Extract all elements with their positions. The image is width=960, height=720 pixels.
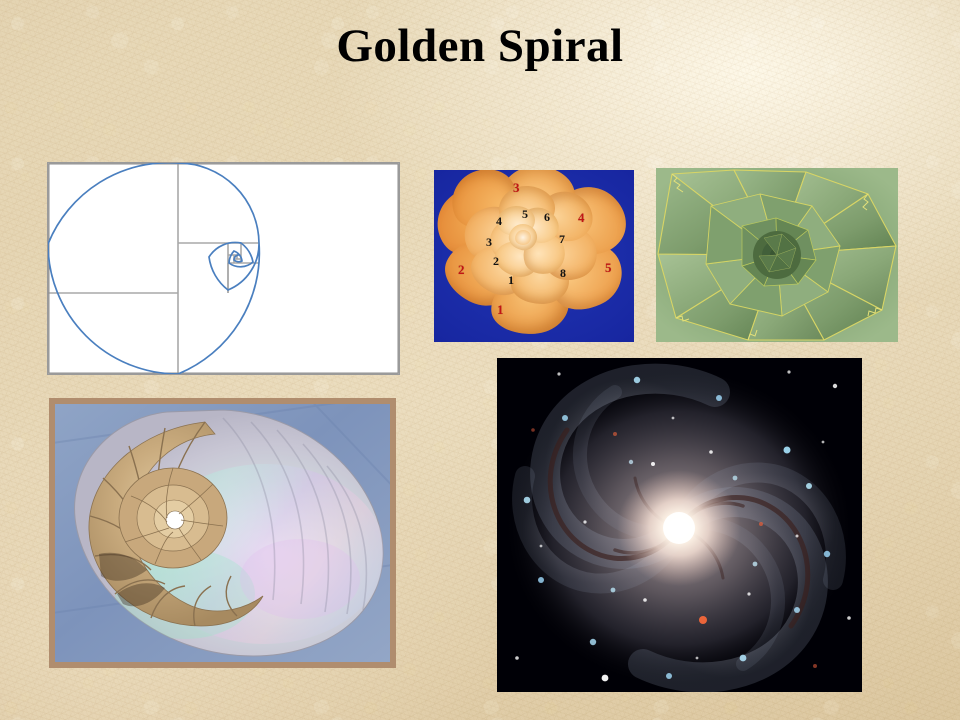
rose-inner-label-8: 8 <box>560 267 566 279</box>
slide-canvas: Golden Spiral <box>0 0 960 720</box>
spiral-galaxy-photo <box>497 358 862 692</box>
galaxy-svg <box>497 358 862 692</box>
rose-inner-label-6: 6 <box>544 211 550 223</box>
rose-outer-label-4: 4 <box>578 211 585 224</box>
rose-inner-label-2: 2 <box>493 255 499 267</box>
rose-outer-label-2: 2 <box>458 263 465 276</box>
rose-inner-label-1: 1 <box>508 274 514 286</box>
galaxy-nucleus <box>663 512 695 544</box>
golden-spiral-rectangle-diagram <box>47 162 400 375</box>
rose-inner-label-7: 7 <box>559 233 565 245</box>
rose-inner-label-4: 4 <box>496 215 502 227</box>
slide-title: Golden Spiral <box>0 22 960 71</box>
rose-outer-label-5: 5 <box>605 261 612 274</box>
rose-phyllotaxis-photo: 1 2 3 4 5 1 2 3 4 5 6 7 8 <box>434 170 634 342</box>
nautilus-shell-cross-section-photo <box>49 398 396 668</box>
spiral-aloe-photo <box>656 168 898 342</box>
nautilus-inner-coil <box>119 468 227 568</box>
nautilus-image <box>55 404 390 662</box>
nautilus-svg <box>55 404 390 662</box>
rose-bloom: 1 2 3 4 5 1 2 3 4 5 6 7 8 <box>439 172 629 340</box>
rose-outer-label-3: 3 <box>513 181 520 194</box>
rose-outer-label-1: 1 <box>497 303 504 316</box>
aloe-core <box>753 231 801 279</box>
fibonacci-svg <box>48 163 399 374</box>
rose-inner-label-3: 3 <box>486 236 492 248</box>
aloe-svg <box>656 168 898 342</box>
rose-inner-label-5: 5 <box>522 208 528 220</box>
